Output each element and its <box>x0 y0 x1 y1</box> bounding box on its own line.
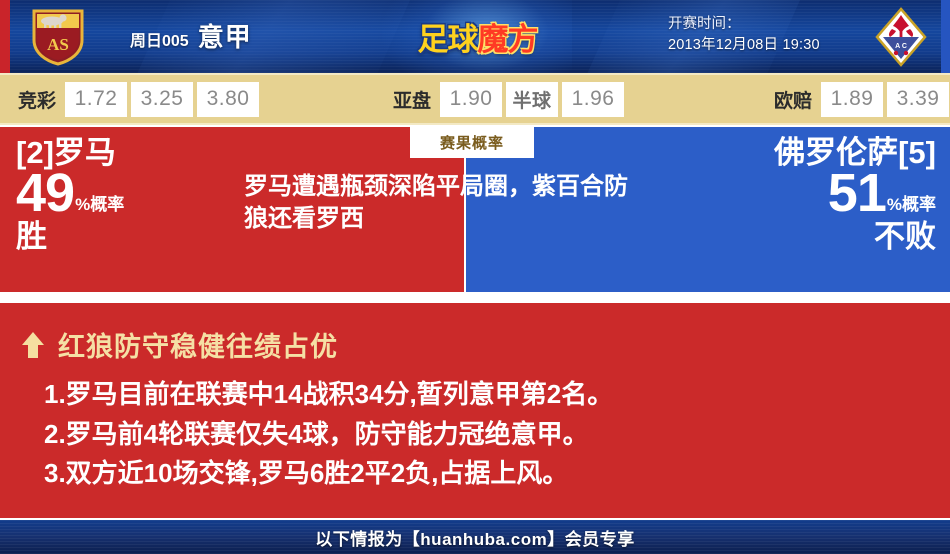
odds-cell-asian-away[interactable]: 1.96 <box>562 82 624 117</box>
kickoff-label: 开赛时间： <box>668 14 820 35</box>
home-outcome-label: 胜 <box>16 221 124 252</box>
away-percent-unit: %概率 <box>887 196 936 219</box>
odds-group-label-jingcai: 竞彩 <box>18 86 56 113</box>
odds-cell-european-home[interactable]: 1.89 <box>821 82 883 117</box>
probability-section: 赛果概率 [2]罗马 49 %概率 胜 佛罗伦萨[5] 51 %概率 不败 罗马… <box>0 127 950 292</box>
footer-bar: 以下情报为【huanhuba.com】会员专享 <box>0 518 950 554</box>
round-number: 周日005 <box>130 27 189 51</box>
header-left-edge-accent <box>0 0 10 73</box>
brand-text: 足球魔方 <box>418 14 538 59</box>
analysis-point: 1.罗马目前在联赛中14战积34分,暂列意甲第2名。 <box>44 375 613 415</box>
away-outcome-label: 不败 <box>774 221 936 252</box>
home-percent-unit: %概率 <box>75 196 124 219</box>
home-percent-value: 49 <box>16 169 74 219</box>
analysis-point: 2.罗马前4轮联赛仅失4球，防守能力冠绝意甲。 <box>44 415 613 455</box>
away-percent-row: 51 %概率 <box>774 169 936 219</box>
arrow-up-icon <box>22 332 44 358</box>
home-team-probability: [2]罗马 49 %概率 胜 <box>16 137 124 252</box>
match-preview-card: AS 周日005 意甲 足球魔方 开赛时间： 2013年12月08日 19:30… <box>0 0 950 554</box>
home-percent-row: 49 %概率 <box>16 169 124 219</box>
analysis-title-row: 红狼防守稳健往绩占优 <box>22 325 338 364</box>
analysis-point: 3.双方近10场交锋,罗马6胜2平2负,占据上风。 <box>44 454 613 494</box>
footer-notice: 以下情报为【huanhuba.com】会员专享 <box>315 525 634 550</box>
away-team-probability: 佛罗伦萨[5] 51 %概率 不败 <box>774 137 936 252</box>
analysis-section: 红狼防守稳健往绩占优 1.罗马目前在联赛中14战积34分,暂列意甲第2名。 2.… <box>0 303 950 518</box>
brand-accent-text: 魔方 <box>478 22 538 57</box>
brand-primary-text: 足球 <box>418 22 478 57</box>
analysis-title: 红狼防守稳健往绩占优 <box>58 325 338 364</box>
odds-cell-jingcai-home[interactable]: 1.72 <box>65 82 127 117</box>
svg-text:A C: A C <box>895 43 907 50</box>
fiorentina-crest-icon: A C <box>875 7 927 67</box>
odds-cell-jingcai-away[interactable]: 3.80 <box>197 82 259 117</box>
odds-group-asian-handicap: 亚盘 1.90 半球 1.96 <box>393 82 624 117</box>
analysis-points-list: 1.罗马目前在联赛中14战积34分,暂列意甲第2名。 2.罗马前4轮联赛仅失4球… <box>44 375 613 494</box>
kickoff-block: 开赛时间： 2013年12月08日 19:30 <box>668 14 820 56</box>
away-percent-value: 51 <box>828 169 886 219</box>
odds-cell-asian-home[interactable]: 1.90 <box>440 82 502 117</box>
match-headline: 罗马遭遇瓶颈深陷平局圈，紫百合防狼还看罗西 <box>244 171 644 234</box>
odds-cell-european-draw[interactable]: 3.39 <box>887 82 949 117</box>
brand-logo: 足球魔方 <box>400 0 555 73</box>
match-header: AS 周日005 意甲 足球魔方 开赛时间： 2013年12月08日 19:30… <box>0 0 950 73</box>
probability-badge-label: 赛果概率 <box>440 132 504 153</box>
league-name: 意甲 <box>198 17 252 54</box>
odds-bar: 竞彩 1.72 3.25 3.80 亚盘 1.90 半球 1.96 欧赔 1.8… <box>0 73 950 125</box>
odds-group-label-asian: 亚盘 <box>393 86 431 113</box>
odds-cell-jingcai-draw[interactable]: 3.25 <box>131 82 193 117</box>
match-meta: 周日005 意甲 <box>130 17 252 54</box>
header-right-edge-accent <box>941 0 950 73</box>
odds-group-jingcai: 竞彩 1.72 3.25 3.80 <box>18 82 259 117</box>
probability-badge: 赛果概率 <box>410 127 534 158</box>
svg-text:AS: AS <box>47 35 69 54</box>
odds-group-european: 欧赔 1.89 3.39 3.98 <box>774 82 950 117</box>
as-roma-crest-icon: AS <box>30 8 86 66</box>
odds-group-label-european: 欧赔 <box>774 86 812 113</box>
kickoff-value: 2013年12月08日 19:30 <box>668 35 820 56</box>
odds-cell-asian-line[interactable]: 半球 <box>506 82 558 117</box>
